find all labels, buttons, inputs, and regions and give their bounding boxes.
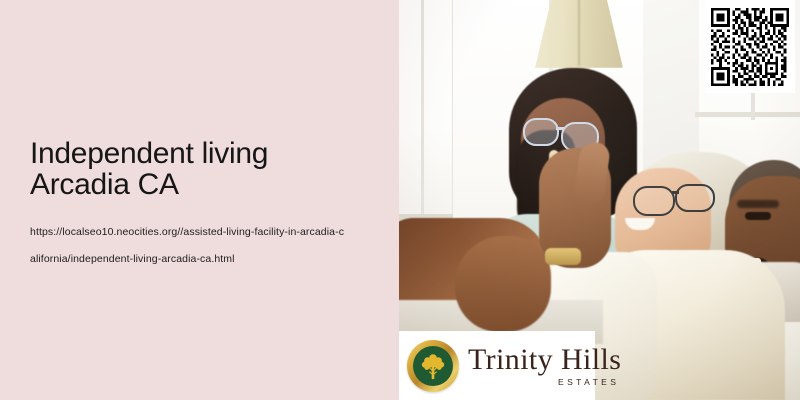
qr-code-icon[interactable] [711, 8, 789, 86]
foreground-forearm [455, 236, 551, 332]
woman-white-glasses-bridge [672, 191, 679, 194]
woman-dark-glasses-left [523, 118, 559, 146]
lamp-shade-seam [578, 0, 580, 68]
tree-icon [418, 351, 448, 381]
page-title: Independent living Arcadia CA [30, 138, 370, 200]
woman-white-glasses-left [633, 186, 675, 216]
man-eye [745, 212, 771, 220]
tree-emblem-icon [407, 340, 459, 392]
woman-white-glasses-right [675, 184, 715, 212]
brand-logo[interactable]: Trinity Hills ESTATES [399, 331, 595, 400]
logo-subtitle: ESTATES [558, 378, 619, 387]
wristwatch [545, 248, 581, 265]
window-left [399, 0, 455, 242]
emblem-disc [413, 346, 453, 386]
man-eyebrow [737, 200, 779, 208]
qr-code-panel[interactable] [705, 0, 795, 93]
window-mullion [421, 0, 424, 242]
logo-text: Trinity Hills ESTATES [468, 345, 621, 387]
window-frame-horizontal [695, 112, 800, 117]
page-url[interactable]: https://localseo10.neocities.org//assist… [30, 219, 348, 273]
woman-dark-glasses-bridge [556, 127, 564, 130]
text-panel: Independent living Arcadia CA https://lo… [0, 0, 399, 400]
logo-name: Trinity Hills [468, 345, 621, 375]
promo-card: Independent living Arcadia CA https://lo… [0, 0, 800, 400]
